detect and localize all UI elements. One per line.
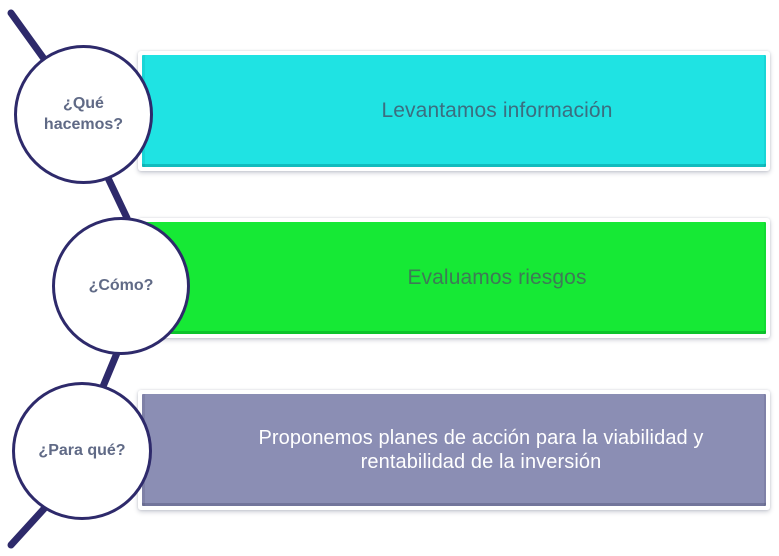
statement-bar-3-label: Proponemos planes de acción para la viab… [142,426,766,475]
question-node-1-line1: ¿Qué [63,95,104,112]
question-node-1-label: ¿Qué hacemos? [38,94,129,135]
statement-bar-2-fill: Evaluamos riesgos [142,222,766,334]
statement-bar-1-label: Levantamos información [142,98,766,124]
question-node-2: ¿Cómo? [52,217,190,355]
question-node-2-label: ¿Cómo? [83,276,160,296]
connector-top-tail [11,13,47,63]
connector-circle1-to-circle2 [108,178,127,218]
question-node-1-line2: hacemos? [44,116,123,133]
question-node-3: ¿Para qué? [12,382,152,520]
question-node-1: ¿Qué hacemos? [14,45,153,184]
statement-bar-1-fill: Levantamos información [142,55,766,167]
diagram-canvas: Levantamos información Evaluamos riesgos… [0,0,779,556]
connector-circle2-to-circle3 [102,353,117,389]
statement-bar-2-label: Evaluamos riesgos [142,265,766,291]
question-node-3-label: ¿Para qué? [32,441,131,461]
statement-bar-1: Levantamos información [138,51,770,171]
statement-bar-2: Evaluamos riesgos [138,218,770,338]
statement-bar-3: Proponemos planes de acción para la viab… [138,390,770,510]
statement-bar-3-fill: Proponemos planes de acción para la viab… [142,394,766,506]
